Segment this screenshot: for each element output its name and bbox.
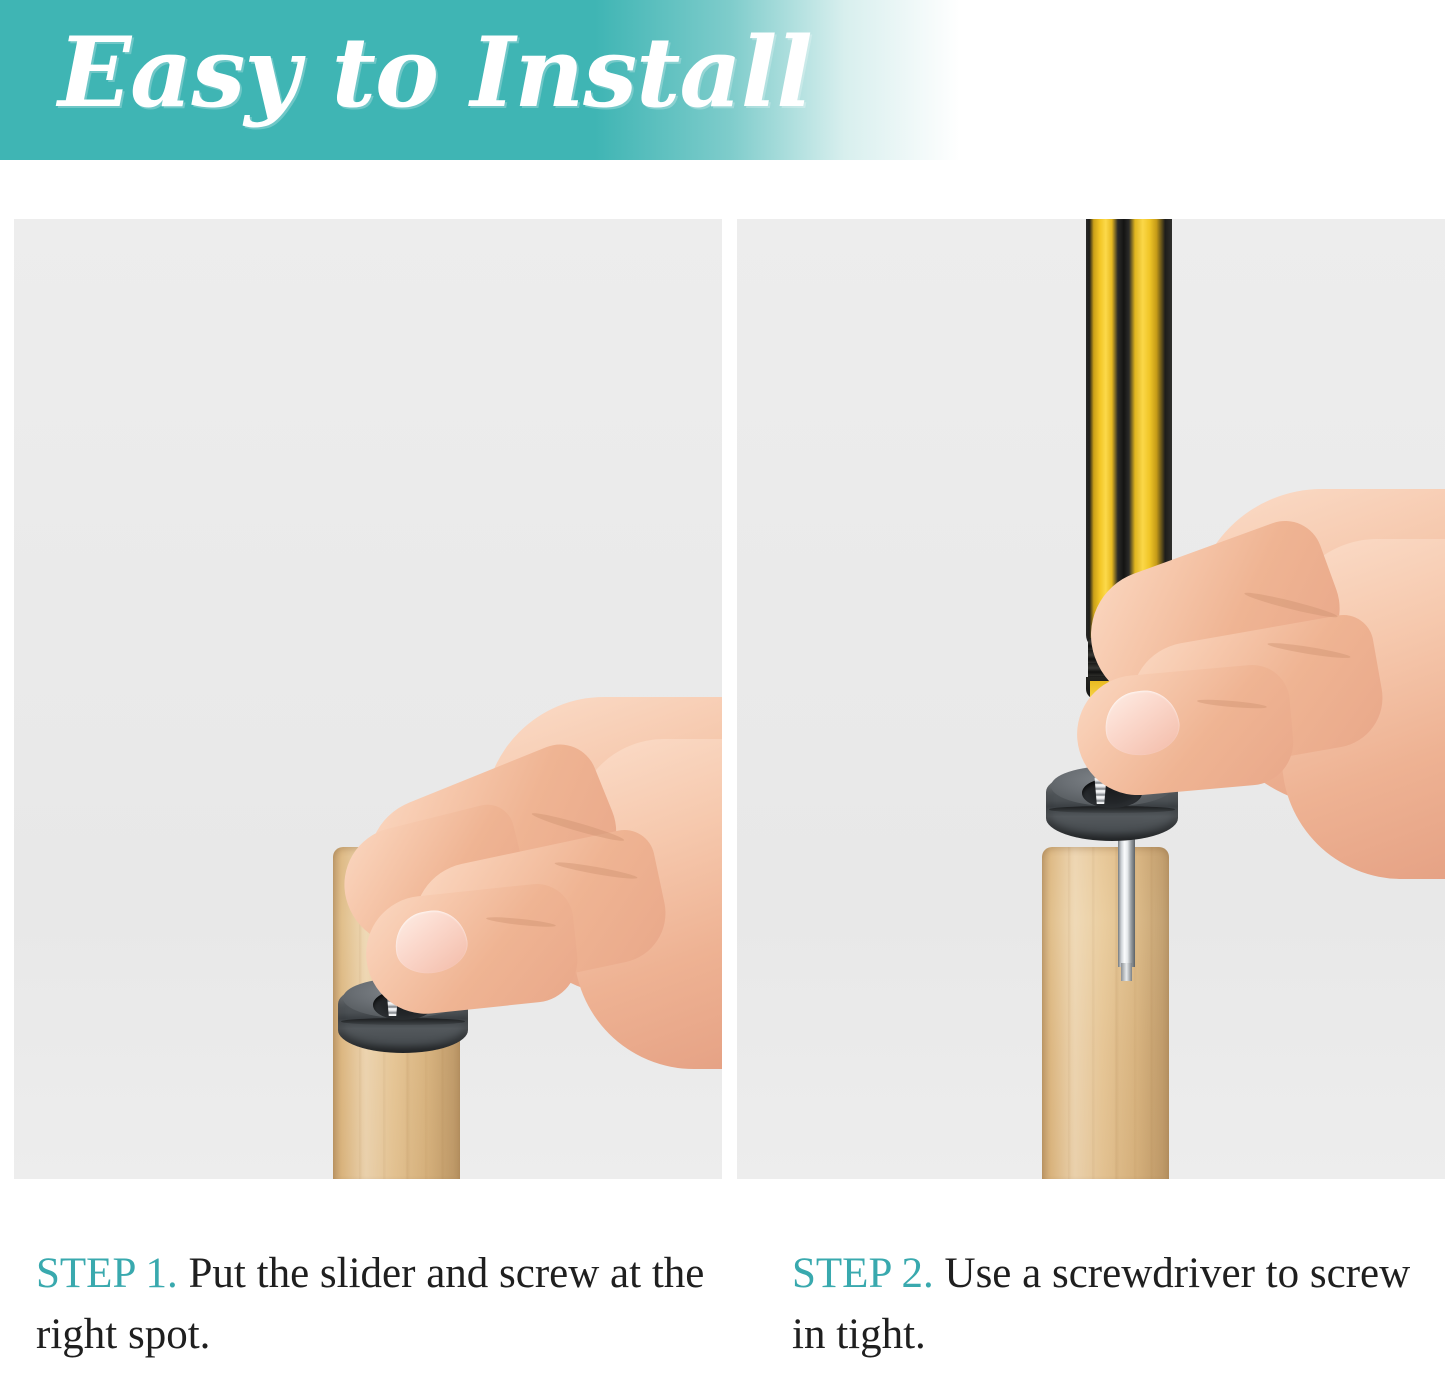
photo-panel-step-1 bbox=[14, 219, 722, 1179]
header-banner: Easy to Install bbox=[0, 0, 960, 160]
caption-step-2: STEP 2. Use a screwdriver to screw in ti… bbox=[792, 1243, 1442, 1365]
screwdriver-tip bbox=[1121, 963, 1132, 981]
caption-step-1: STEP 1. Put the slider and screw at the … bbox=[36, 1243, 726, 1365]
photo-panel-step-2 bbox=[737, 219, 1445, 1179]
wood-grain-texture bbox=[1042, 847, 1169, 1179]
step-label: STEP 2. bbox=[792, 1250, 934, 1297]
step-label: STEP 1. bbox=[36, 1250, 178, 1297]
wood-leg bbox=[1042, 847, 1169, 1179]
page-title: Easy to Install bbox=[58, 18, 812, 128]
